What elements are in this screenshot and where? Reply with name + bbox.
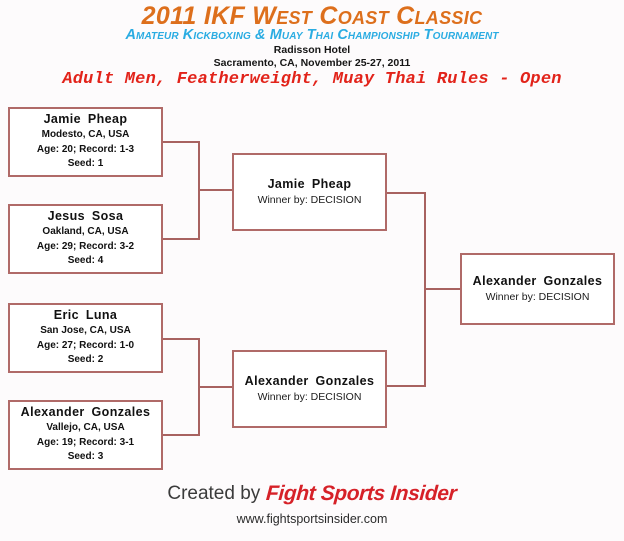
competitor-name: Jesus Sosa: [48, 209, 124, 225]
competitor-name: Alexander Gonzales: [21, 405, 151, 421]
competitor-hometown: Modesto, CA, USA: [42, 128, 130, 143]
connector-r1-bottom-to-semifinal: [198, 386, 234, 388]
connector-final-upper-horizontal: [387, 192, 426, 194]
connector-final-lower-horizontal: [387, 385, 426, 387]
champion-box[interactable]: Alexander Gonzales Winner by: DECISION: [460, 253, 615, 325]
credit-row: Created byFight Sports Insider: [0, 482, 624, 506]
competitor-box-1[interactable]: Jamie Pheap Modesto, CA, USA Age: 20; Re…: [8, 107, 163, 177]
credit-label: Created by: [167, 483, 260, 504]
competitor-box-4[interactable]: Alexander Gonzales Vallejo, CA, USA Age:…: [8, 400, 163, 470]
competitor-hometown: San Jose, CA, USA: [40, 324, 131, 339]
event-location-date: Sacramento, CA, November 25-27, 2011: [0, 57, 624, 69]
competitor-seed: Seed: 3: [68, 450, 104, 465]
competitor-name: Jamie Pheap: [44, 112, 128, 128]
connector-r1-bottom-upper-horizontal: [163, 338, 200, 340]
connector-r1-top-to-semifinal: [198, 189, 234, 191]
semifinal-winner-result: Winner by: DECISION: [258, 193, 362, 208]
competitor-age-record: Age: 29; Record: 3-2: [37, 240, 134, 255]
brand-website-url: www.fightsportsinsider.com: [0, 512, 624, 526]
bracket-page: 2011 IKF West Coast Classic Amateur Kick…: [0, 0, 624, 541]
competitor-box-2[interactable]: Jesus Sosa Oakland, CA, USA Age: 29; Rec…: [8, 204, 163, 274]
competitor-box-3[interactable]: Eric Luna San Jose, CA, USA Age: 27; Rec…: [8, 303, 163, 373]
competitor-age-record: Age: 19; Record: 3-1: [37, 436, 134, 451]
competitor-age-record: Age: 27; Record: 1-0: [37, 339, 134, 354]
connector-r1-top-lower-horizontal: [163, 238, 200, 240]
page-subtitle: Amateur Kickboxing & Muay Thai Champions…: [0, 27, 624, 43]
competitor-seed: Seed: 2: [68, 353, 104, 368]
venue-name: Radisson Hotel: [0, 44, 624, 56]
champion-name: Alexander Gonzales: [473, 273, 603, 289]
semifinal-winner-result: Winner by: DECISION: [258, 390, 362, 405]
connector-r1-top-upper-horizontal: [163, 141, 200, 143]
semifinal-winner-name: Jamie Pheap: [268, 176, 352, 192]
connector-final-to-champion: [424, 288, 462, 290]
competitor-seed: Seed: 1: [68, 157, 104, 172]
champion-result: Winner by: DECISION: [486, 290, 590, 305]
semifinal-winner-name: Alexander Gonzales: [245, 373, 375, 389]
semifinal-box-bottom[interactable]: Alexander Gonzales Winner by: DECISION: [232, 350, 387, 428]
competitor-name: Eric Luna: [54, 308, 118, 324]
division-title: Adult Men, Featherweight, Muay Thai Rule…: [0, 70, 624, 89]
competitor-hometown: Oakland, CA, USA: [42, 225, 128, 240]
semifinal-box-top[interactable]: Jamie Pheap Winner by: DECISION: [232, 153, 387, 231]
connector-r1-bottom-lower-horizontal: [163, 434, 200, 436]
competitor-hometown: Vallejo, CA, USA: [46, 421, 124, 436]
competitor-seed: Seed: 4: [68, 254, 104, 269]
competitor-age-record: Age: 20; Record: 1-3: [37, 143, 134, 158]
brand-logo: Fight Sports Insider: [265, 482, 457, 506]
